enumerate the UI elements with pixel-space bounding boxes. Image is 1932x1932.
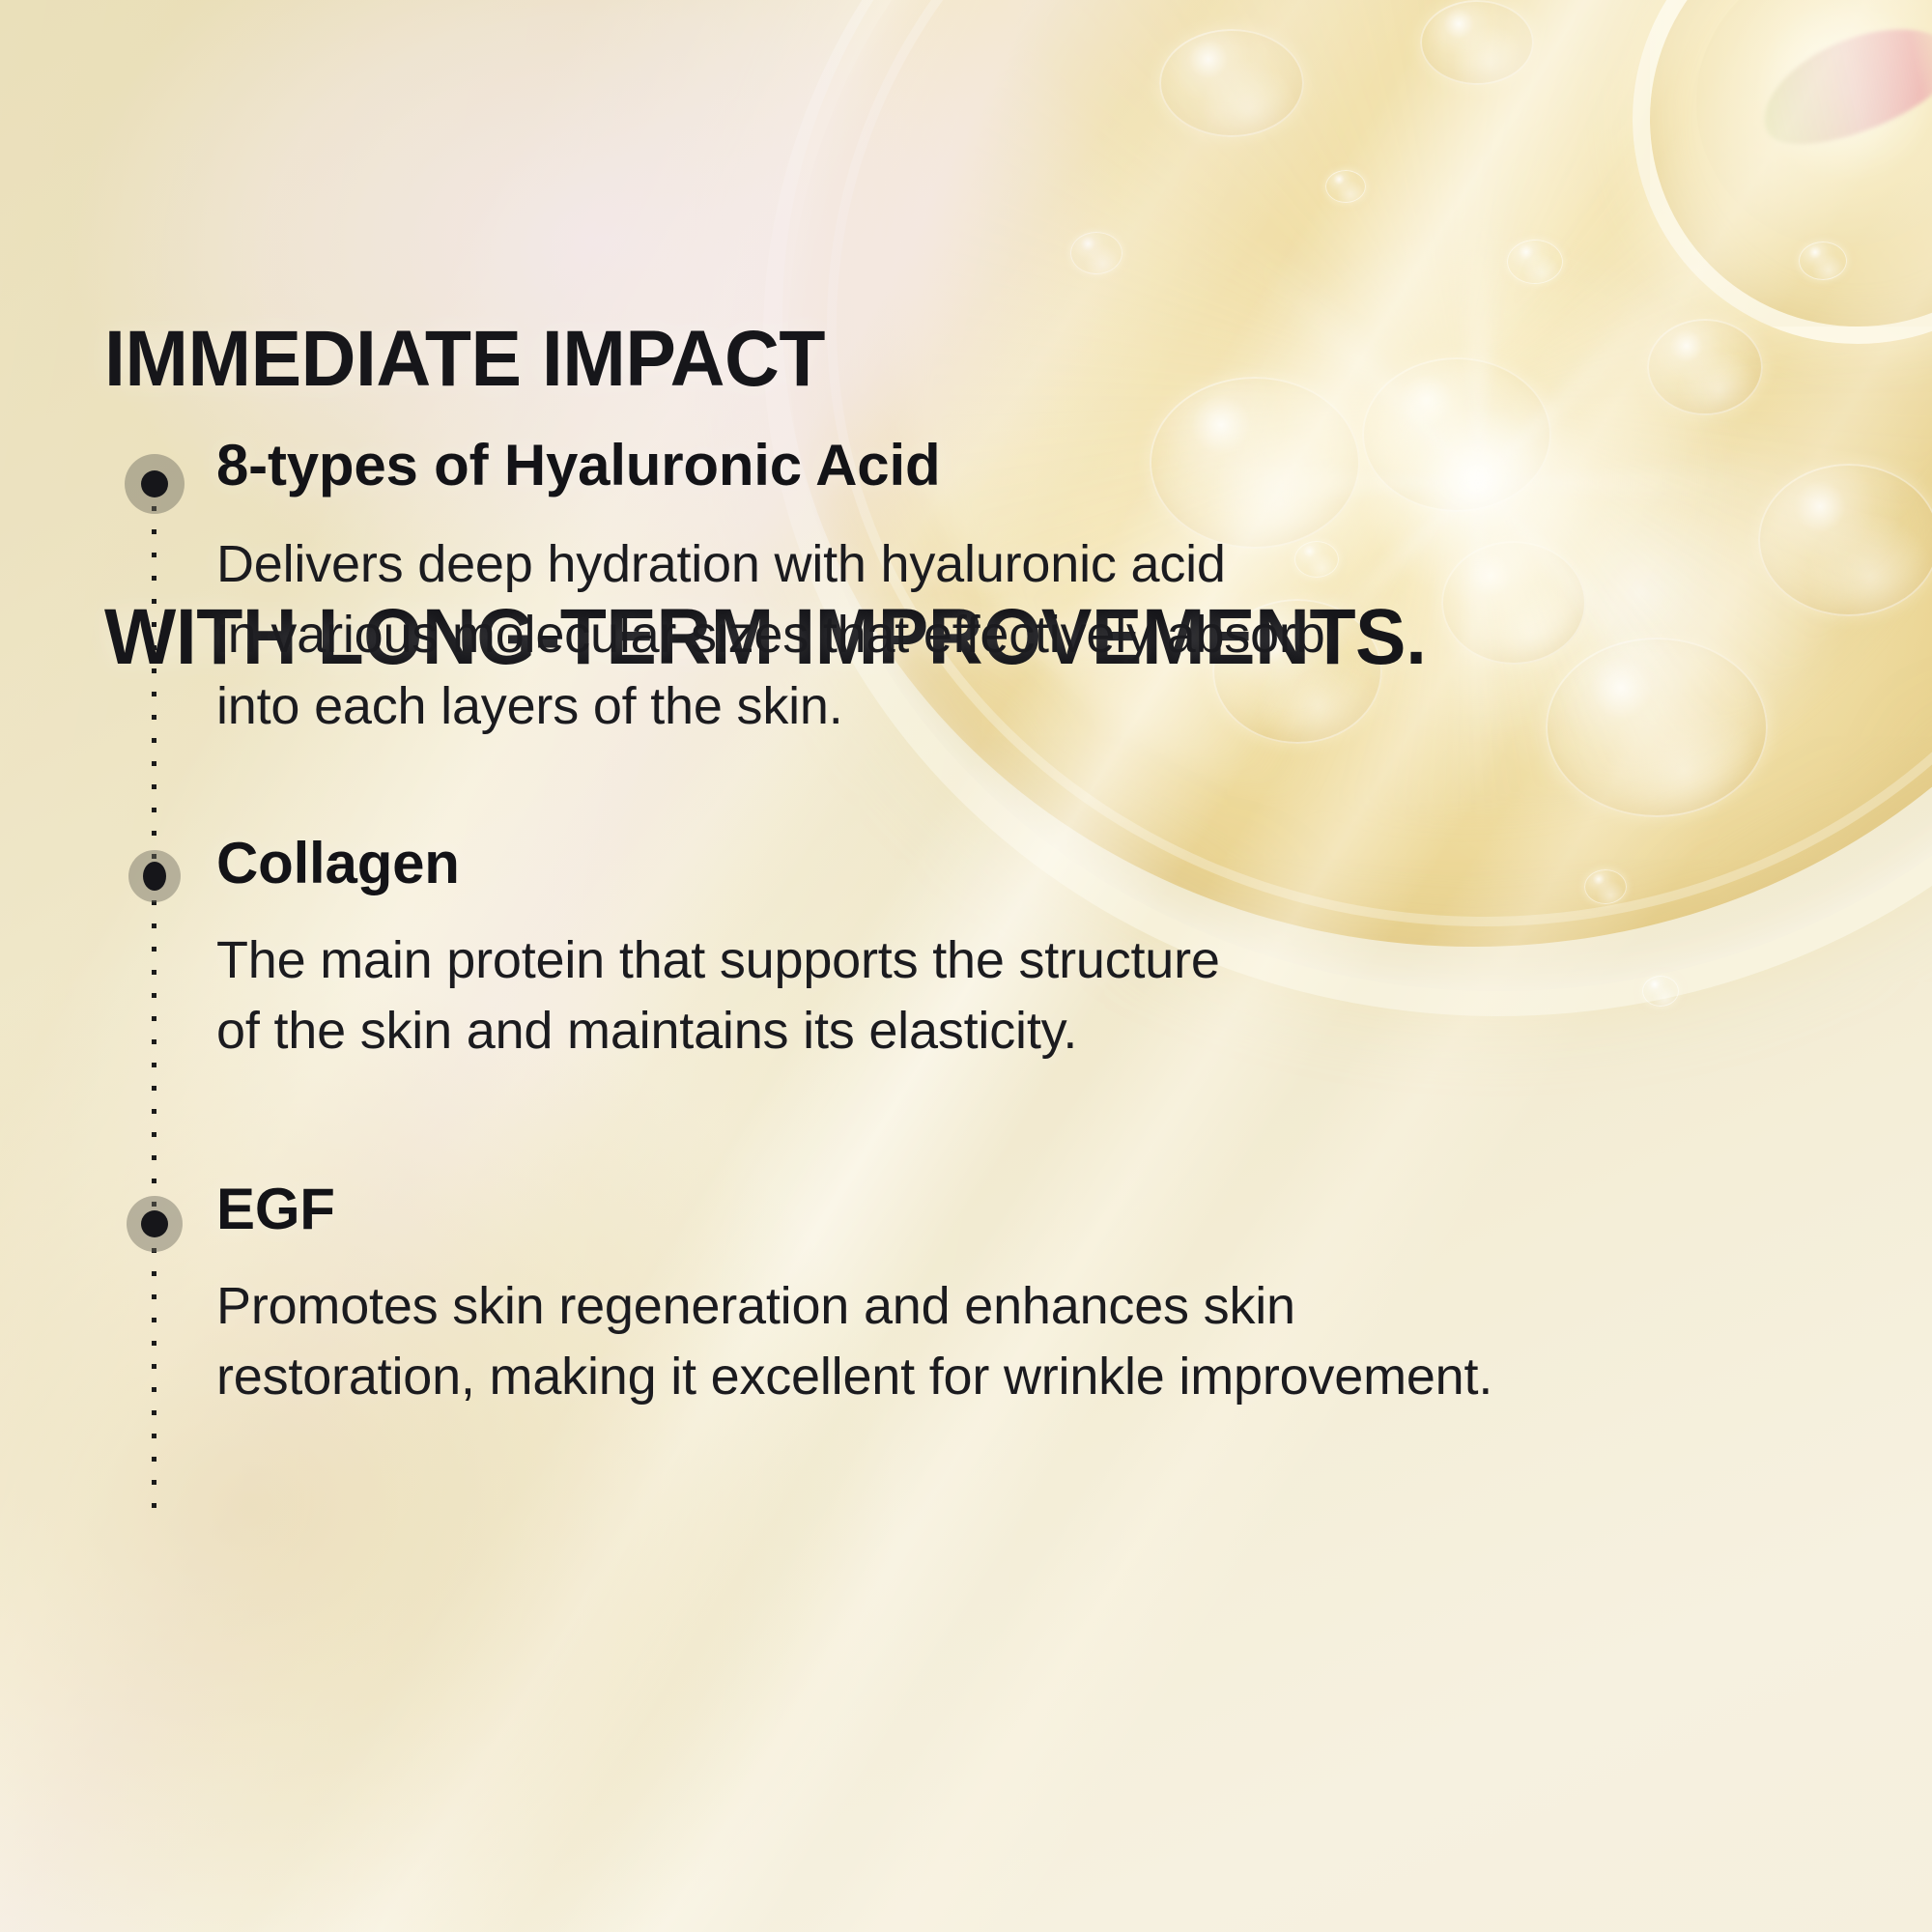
bullet-dot-icon <box>141 470 168 497</box>
ingredient-title: 8-types of Hyaluronic Acid <box>216 437 940 495</box>
bullet-dot-icon <box>143 862 166 891</box>
ingredient-title: EGF <box>216 1180 335 1238</box>
page-title: IMMEDIATE IMPACT WITH LONG-TERM IMPROVEM… <box>104 128 1426 869</box>
bullet-dot-icon <box>141 1210 168 1237</box>
headline-line-1: IMMEDIATE IMPACT <box>104 313 1426 406</box>
dotted-connector-line <box>152 483 156 1517</box>
ingredient-description: Delivers deep hydration with hyaluronic … <box>216 529 1325 742</box>
ingredient-description: Promotes skin regeneration and enhances … <box>216 1271 1492 1413</box>
bullet-marker-icon <box>127 1196 183 1252</box>
infographic-poster: IMMEDIATE IMPACT WITH LONG-TERM IMPROVEM… <box>0 0 1932 1932</box>
bullet-marker-icon <box>125 454 185 514</box>
ingredient-description: The main protein that supports the struc… <box>216 925 1220 1067</box>
bullet-marker-icon <box>128 850 181 902</box>
ingredient-title: Collagen <box>216 835 460 893</box>
content-layer: IMMEDIATE IMPACT WITH LONG-TERM IMPROVEM… <box>0 0 1932 1932</box>
